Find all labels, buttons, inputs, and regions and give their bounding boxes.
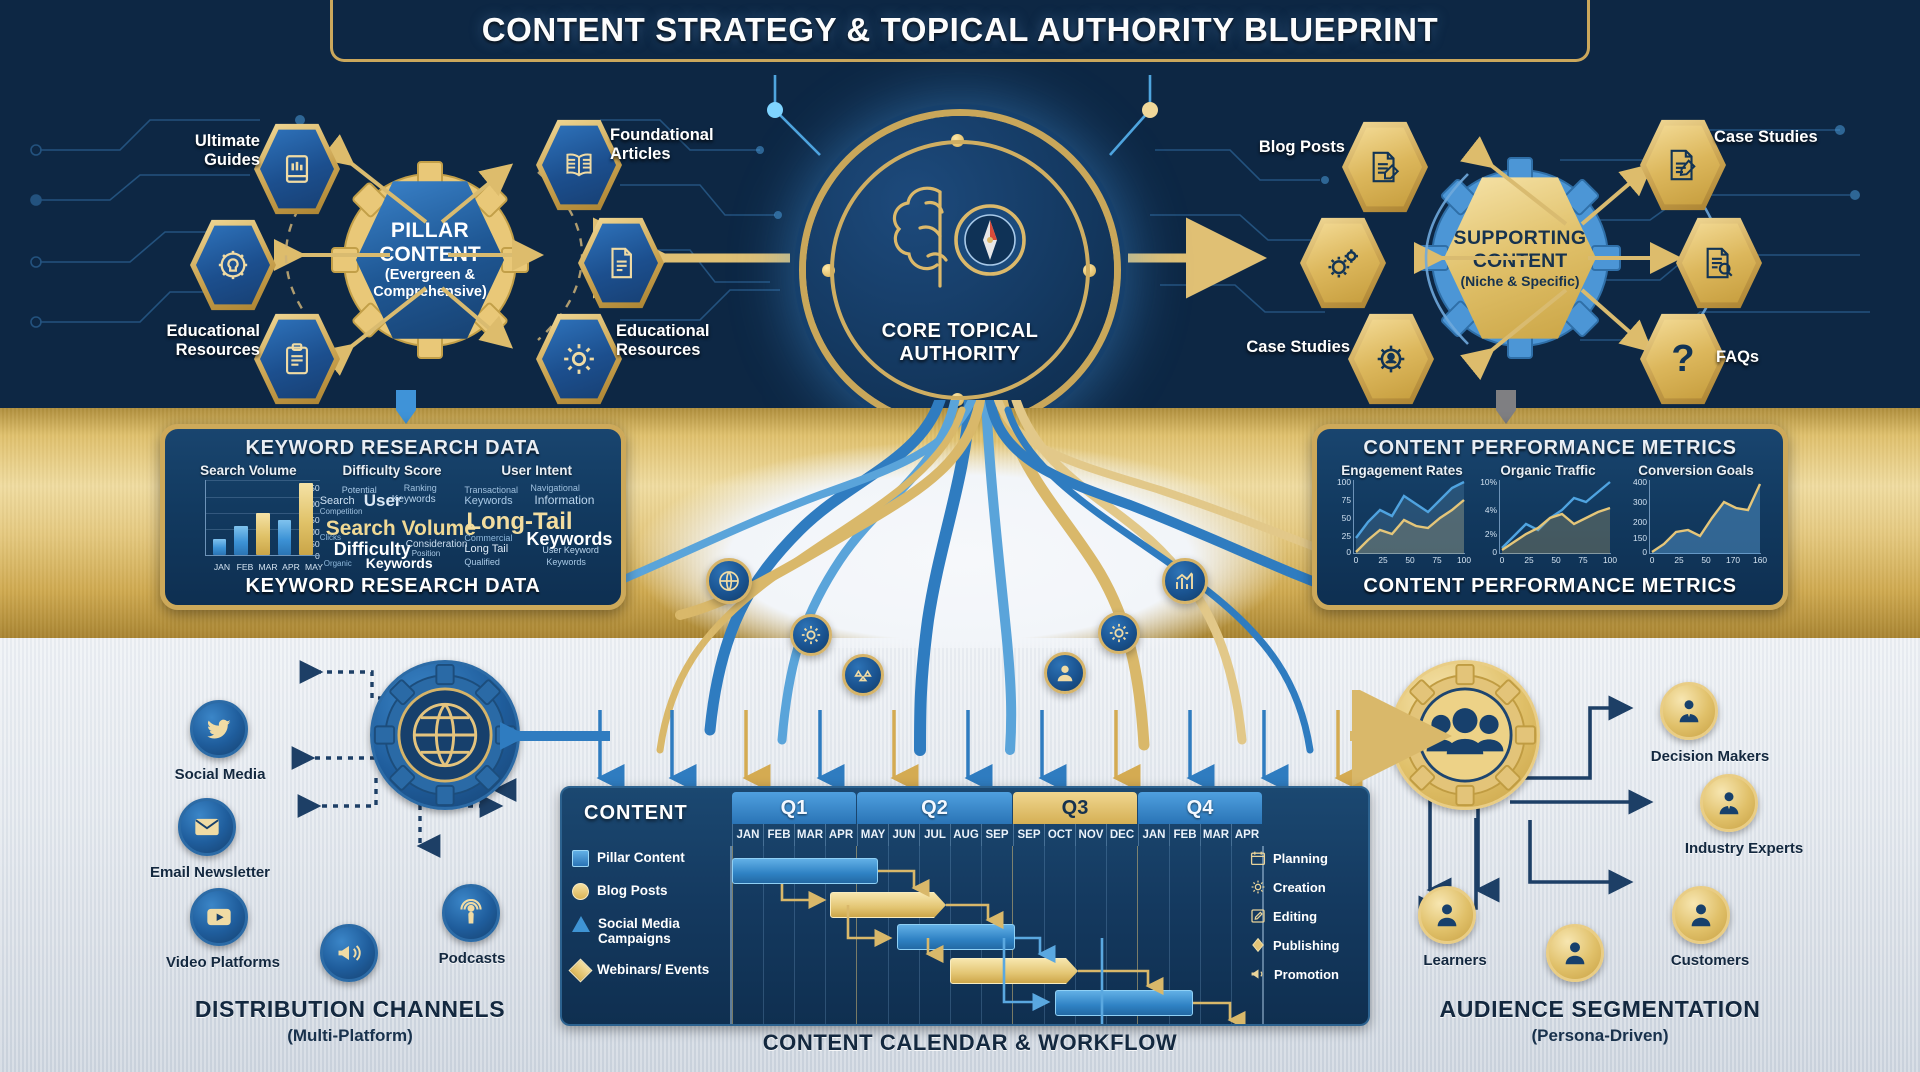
xtick: 0 [1500,555,1505,565]
chart-search-volume-title: Search Volume [177,463,320,478]
file-search-icon [1703,246,1735,280]
pillar-label-ultimate-guides: Ultimate Guides [150,132,260,170]
chart-difficulty-title: Difficulty Score [320,463,465,478]
supporting-label-faqs: FAQs [1716,348,1816,367]
document-pencil-icon [1369,150,1401,184]
month-cell: MAY [857,824,888,846]
keyword-panel-footer: KEYWORD RESEARCH DATA [177,575,609,598]
page-title-plate: CONTENT STRATEGY & TOPICAL AUTHORITY BLU… [330,0,1590,62]
segment-decision-makers[interactable] [1660,682,1718,740]
megaphone-icon [1250,966,1267,982]
businessman-icon [1714,788,1744,818]
lightbulb-gear-icon [216,248,250,282]
supporting-title-line1: SUPPORTING [1454,227,1587,250]
month-cell: MAR [1200,824,1231,846]
chart-organic-traffic: Organic Traffic 10% 4% 2% 0 0 25 50 75 1 [1475,463,1621,554]
cloud-word: Ranking [404,484,437,493]
segment-industry-experts[interactable] [1700,774,1758,832]
document-edit-icon [606,246,636,280]
ytick: 2% [1485,529,1497,539]
channel-label-video-platforms: Video Platforms [148,954,298,971]
conversion-area [1650,480,1762,554]
legend-label: Social Media Campaigns [598,916,722,946]
quarter-q2: Q2 [857,792,1012,824]
organic-lines [1500,480,1612,554]
distribution-subtitle: (Multi-Platform) [130,1026,570,1046]
engagement-plot: 100 75 50 25 0 0 25 50 75 100 [1353,480,1465,554]
ytick: 300 [1633,497,1647,507]
xtick: 100 [1603,555,1617,565]
core-inner-disc: CORE TOPICAL AUTHORITY [830,140,1090,400]
legend-label: Pillar Content [597,850,685,865]
root-white-area [560,408,1360,648]
gantt-task-5[interactable] [1055,990,1193,1016]
calendar-title: CONTENT CALENDAR & WORKFLOW [700,1030,1240,1056]
month-cell: JUN [888,824,919,846]
distribution-hub[interactable] [370,660,520,810]
legend-label: Promotion [1274,967,1339,982]
ytick: 50 [1342,513,1351,523]
pillar-label-educational-resources-right: Educational Resources [616,322,736,360]
gantt-task-2[interactable] [830,892,946,918]
twitter-bird-icon [205,715,233,743]
supporting-title-line2: CONTENT [1473,250,1567,273]
month-cell: FEB [1169,824,1200,846]
cloud-word: Commercial [464,534,512,543]
segment-label-industry-experts: Industry Experts [1654,840,1834,857]
month-cell: MAR [794,824,825,846]
channel-megaphone[interactable] [320,924,378,982]
calendar-legend-left: Pillar Content Blog Posts Social Media C… [572,850,722,995]
quarter-q1: Q1 [732,792,856,824]
cloud-word: Transactional [464,486,518,495]
calendar-header-label: CONTENT [584,802,688,825]
xtick: 0 [1650,555,1655,565]
gears-icon [1325,246,1361,280]
month-cell: DEC [1106,824,1137,846]
supporting-hub[interactable]: SUPPORTING CONTENT (Niche & Specific) [1418,156,1622,360]
xtick: 25 [1674,555,1683,565]
chart-engagement-title: Engagement Rates [1329,463,1475,478]
bar-may [299,483,313,555]
keyword-panel-title: KEYWORD RESEARCH DATA [177,437,609,460]
month-cell: JAN [1138,824,1169,846]
month-cell: NOV [1075,824,1106,846]
xtick: 75 [1578,555,1587,565]
chart-organic-title: Organic Traffic [1475,463,1621,478]
person-icon [1686,900,1716,930]
infographic-canvas: CONTENT STRATEGY & TOPICAL AUTHORITY BLU… [0,0,1920,1072]
triangle-blue-swatch [572,916,590,932]
file-edit-icon [1667,148,1699,182]
legend-item-editing[interactable]: Editing [1250,908,1360,924]
ytick: 0 [1492,547,1497,557]
legend-item-publishing[interactable]: Publishing [1250,937,1360,953]
cloud-word: Keywords [546,558,586,567]
metrics-panel-footer: CONTENT PERFORMANCE METRICS [1329,575,1771,598]
month-cell: AUG [950,824,981,846]
cloud-word: Keywords [366,556,433,570]
month-cell: OCT [1044,824,1075,846]
clipboard-icon [282,342,312,376]
ytick: 400 [1633,477,1647,487]
month-cell: APR [1231,824,1262,846]
cloud-word: Long Tail [464,544,508,555]
conversion-plot: 400 300 200 150 0 0 25 50 170 160 [1649,480,1761,554]
xtick: 25 [1378,555,1387,565]
cloud-word: Keywords [392,495,436,505]
legend-item-promotion[interactable]: Promotion [1250,966,1360,982]
content-calendar[interactable]: CONTENT Q1 Q2 Q3 Q4 JAN FEB MAR APR MAY … [560,786,1370,1026]
engagement-lines [1354,480,1466,554]
bar-apr [278,520,292,555]
audience-hub[interactable] [1390,660,1540,810]
segment-learners[interactable] [1418,886,1476,944]
legend-label: Publishing [1273,938,1339,953]
segment-customers[interactable] [1672,886,1730,944]
supporting-subtitle: (Niche & Specific) [1454,273,1585,289]
pillar-subtitle: (Evergreen & Comprehensive) [356,267,504,300]
user-intent-wordcloud: Transactional Navigational Keywords Info… [464,480,609,572]
pillar-hub[interactable]: PILLAR CONTENT (Evergreen & Comprehensiv… [330,160,530,360]
root-node-gear-left[interactable] [790,614,832,656]
core-topical-authority[interactable]: CORE TOPICAL AUTHORITY [806,116,1114,424]
megaphone-icon [335,939,363,967]
cloud-word: Search [320,496,355,507]
ytick: 25 [1342,531,1351,541]
legend-item-planning[interactable]: Planning [1250,850,1360,866]
xtick: APR [282,562,300,572]
recycle-icon [852,664,874,686]
cloud-word: Qualified [464,558,500,567]
open-book-icon [561,149,597,181]
search-volume-axes [205,480,320,556]
legend-item-social-media-campaigns[interactable]: Social Media Campaigns [572,916,722,946]
xtick: 0 [1354,555,1359,565]
square-blue-swatch [572,850,589,867]
segment-generic-person[interactable] [1546,924,1604,982]
businessman-icon [1674,696,1704,726]
bar-jan [213,539,227,556]
root-node-recycle[interactable] [842,654,884,696]
xtick: 50 [1701,555,1710,565]
bar-feb [234,526,248,555]
play-button-icon [205,903,233,931]
ytick: 0 [1642,547,1647,557]
user-icon [1054,662,1076,684]
search-volume-plot: 350 200 150 100 50 0 [177,480,320,572]
pencil-square-icon [1250,908,1266,924]
legend-label: Planning [1273,851,1328,866]
root-node-chart[interactable] [1162,558,1208,604]
gantt-task-6[interactable] [1155,1024,1267,1026]
ytick: 200 [1633,517,1647,527]
podcast-mic-icon [457,899,485,927]
cloud-word: Keywords [464,496,512,507]
audience-title: AUDIENCE SEGMENTATION [1380,996,1820,1023]
ytick: 10% [1480,477,1497,487]
root-node-gear-right[interactable] [1098,612,1140,654]
month-cell: FEB [763,824,794,846]
legend-label: Creation [1273,880,1326,895]
core-label-line2: AUTHORITY [882,343,1039,366]
difficulty-wordcloud: Potential Ranking Search User Keywords C… [320,480,465,572]
keyword-research-panel[interactable]: KEYWORD RESEARCH DATA Search Volume 350 … [160,424,626,610]
chart-conversion-goals: Conversion Goals 400 300 200 150 0 0 25 … [1621,463,1771,554]
core-label-line1: CORE TOPICAL [882,320,1039,343]
xtick: MAR [258,562,277,572]
chart-user-intent-title: User Intent [464,463,609,478]
people-gear-icon [1393,660,1537,810]
circle-gold-swatch [572,883,589,900]
calendar-legend-right: Planning Creation Editing [1250,850,1360,995]
segment-label-customers: Customers [1640,952,1780,969]
pillar-title-line2: CONTENT [379,243,481,267]
book-icon [280,152,314,186]
month-cell: JAN [732,824,763,846]
xtick: FEB [237,562,254,572]
core-label: CORE TOPICAL AUTHORITY [882,320,1039,366]
diamond-gold-swatch [568,959,592,983]
xtick: JAN [214,562,230,572]
xtick: 50 [1405,555,1414,565]
pillar-title-line1: PILLAR [391,219,469,243]
globe-icon [717,569,741,593]
cloud-word: User Keyword [542,546,599,555]
legend-label: Blog Posts [597,883,668,898]
diamond-icon [1250,937,1266,953]
gantt-task-1[interactable] [732,858,878,884]
ytick: 75 [1342,495,1351,505]
xtick: 25 [1524,555,1533,565]
chart-search-volume: Search Volume 350 200 150 100 50 0 [177,463,320,572]
xtick: 50 [1551,555,1560,565]
cloud-word: Competition [320,508,363,516]
xtick: 100 [1457,555,1471,565]
cloud-word: Search Volume [326,518,476,539]
channel-label-email-newsletter: Email Newsletter [140,864,280,881]
segment-label-learners: Learners [1390,952,1520,969]
ytick: 0 [1346,547,1351,557]
month-cell: SEP [1013,824,1044,846]
page-title: CONTENT STRATEGY & TOPICAL AUTHORITY BLU… [482,11,1439,49]
chart-user-intent: User Intent Transactional Navigational K… [464,463,609,572]
supporting-label-case-studies-bottom: Case Studies [1232,338,1350,357]
gantt-task-4[interactable] [950,958,1078,984]
metrics-panel-title: CONTENT PERFORMANCE METRICS [1329,437,1771,460]
pillar-label-educational-resources-left: Educational Resources [140,322,260,360]
supporting-label-case-studies-top: Case Studies [1714,128,1824,147]
gear-icon [1250,879,1266,895]
cloud-word: Information [534,494,594,506]
bar-mar [256,513,270,555]
question-mark-icon: ? [1671,338,1694,381]
month-cell: JUL [919,824,950,846]
root-node-globe[interactable] [706,558,752,604]
channel-podcasts[interactable] [442,884,500,942]
person-icon [1432,900,1462,930]
legend-label: Webinars/ Events [597,962,709,977]
quarter-q4: Q4 [1138,792,1262,824]
legend-label: Editing [1273,909,1317,924]
organic-plot: 10% 4% 2% 0 0 25 50 75 100 [1499,480,1611,554]
legend-item-pillar-content[interactable]: Pillar Content [572,850,722,867]
segment-label-decision-makers: Decision Makers [1630,748,1790,765]
user-gear-icon [1373,342,1409,376]
cloud-word: Organic [324,560,352,568]
root-node-user[interactable] [1044,652,1086,694]
distribution-title: DISTRIBUTION CHANNELS [130,996,570,1023]
channel-label-podcasts: Podcasts [412,950,532,967]
pillar-label-foundational-articles: Foundational Articles [610,126,730,164]
gear-icon [1108,622,1130,644]
channel-social-media[interactable] [190,700,248,758]
chart-up-icon [1173,569,1197,593]
ytick: 100 [1337,477,1351,487]
person-icon [1560,938,1590,968]
calendar-icon [1250,850,1266,866]
quarter-q3: Q3 [1013,792,1137,824]
channel-label-social-media: Social Media [150,766,290,783]
globe-gear-icon [373,660,517,810]
month-cell: APR [825,824,856,846]
legend-item-blog-posts[interactable]: Blog Posts [572,883,722,900]
chart-difficulty-score: Difficulty Score Potential Ranking Searc… [320,463,465,572]
xtick: 75 [1432,555,1441,565]
month-cell: SEP [981,824,1012,846]
envelope-icon [193,813,221,841]
gantt-task-3[interactable] [897,924,1015,950]
ytick: 4% [1485,505,1497,515]
ytick: 150 [1633,533,1647,543]
xtick: 160 [1753,555,1767,565]
legend-item-webinars-events[interactable]: Webinars/ Events [572,962,722,979]
chart-conversion-title: Conversion Goals [1621,463,1771,478]
content-performance-panel[interactable]: CONTENT PERFORMANCE METRICS Engagement R… [1312,424,1788,610]
channel-email-newsletter[interactable] [178,798,236,856]
cloud-word: Navigational [530,484,580,493]
chart-engagement-rates: Engagement Rates 100 75 50 25 0 0 25 [1329,463,1475,554]
supporting-label-blog-posts: Blog Posts [1245,138,1345,157]
channel-video-platforms[interactable] [190,888,248,946]
brain-compass-icon [878,170,1050,298]
legend-item-creation[interactable]: Creation [1250,879,1360,895]
xtick: 170 [1726,555,1740,565]
gear-icon [562,342,596,376]
audience-subtitle: (Persona-Driven) [1380,1026,1820,1046]
gear-icon [800,624,822,646]
